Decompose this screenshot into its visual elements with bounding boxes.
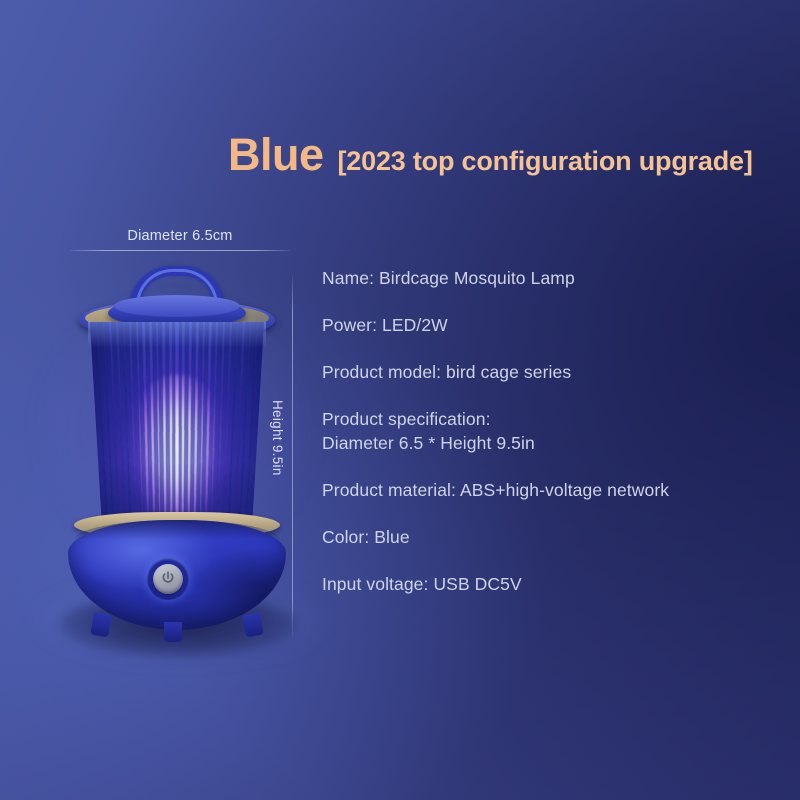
headline-bracket-note: [2023 top configuration upgrade] bbox=[338, 148, 753, 175]
spec-item: Product material: ABS+high-voltage netwo… bbox=[322, 478, 782, 503]
spec-item: Product model: bird cage series bbox=[322, 360, 782, 385]
spec-item: Input voltage: USB DC5V bbox=[322, 572, 782, 597]
lamp-top-inner-highlight bbox=[114, 295, 240, 317]
cage-top-shine bbox=[88, 322, 266, 348]
diameter-rule bbox=[70, 250, 290, 251]
headline: Blue [2023 top configuration upgrade] bbox=[228, 132, 753, 177]
spec-item: Power: LED/2W bbox=[322, 313, 782, 338]
product-info-slide: Blue [2023 top configuration upgrade] Di… bbox=[0, 0, 800, 800]
lamp-cage bbox=[78, 322, 276, 522]
product-image-birdcage-mosquito-lamp bbox=[52, 262, 302, 652]
specification-list: Name: Birdcage Mosquito Lamp Power: LED/… bbox=[322, 266, 782, 597]
spec-item: Product specification: Diameter 6.5 * He… bbox=[322, 407, 782, 457]
diameter-label: Diameter 6.5cm bbox=[70, 228, 290, 244]
lamp-foot-right bbox=[242, 613, 264, 638]
diameter-measurement: Diameter 6.5cm bbox=[70, 228, 290, 251]
spec-item: Name: Birdcage Mosquito Lamp bbox=[322, 266, 782, 291]
lamp-foot-center bbox=[164, 622, 182, 642]
cage-side-shading bbox=[78, 322, 276, 522]
headline-color-name: Blue bbox=[228, 132, 324, 177]
spec-item: Color: Blue bbox=[322, 525, 782, 550]
lamp-foot-left bbox=[90, 613, 112, 638]
power-icon bbox=[160, 570, 176, 586]
